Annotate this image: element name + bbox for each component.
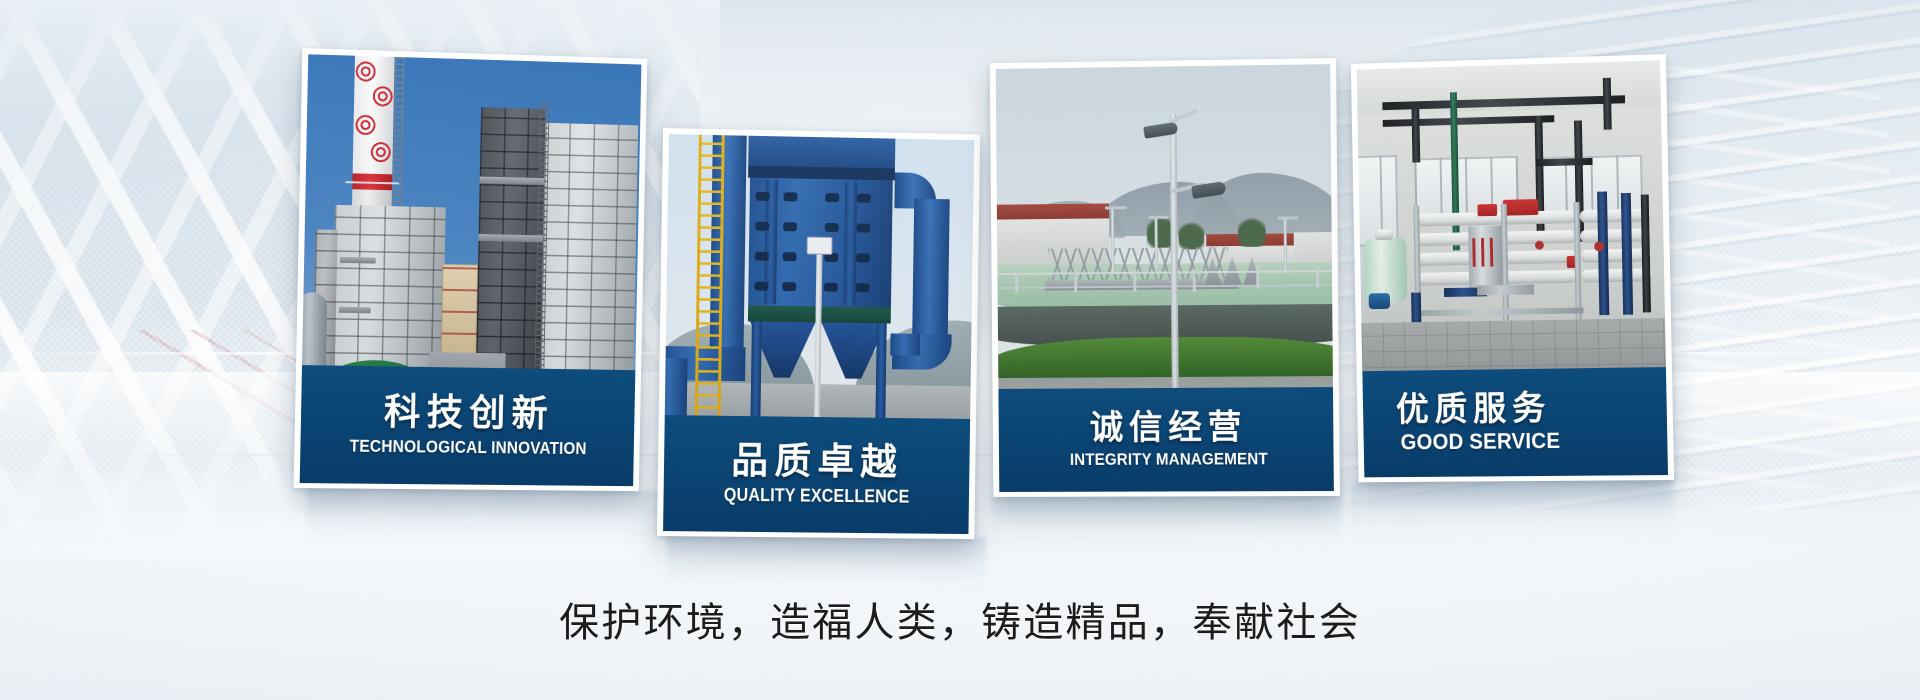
card-banner: 优质服务 GOOD SERVICE: [1362, 367, 1668, 477]
card-title-cn: 科技创新: [384, 394, 555, 435]
feature-card-integrity-management[interactable]: 诚信经营 INTEGRITY MANAGEMENT: [990, 58, 1340, 497]
card-banner: 品质卓越 QUALITY EXCELLENCE: [663, 415, 970, 534]
card-banner: 科技创新 TECHNOLOGICAL INNOVATION: [300, 365, 636, 486]
card-title-en: INTEGRITY MANAGEMENT: [1070, 450, 1268, 469]
card-title-cn: 诚信经营: [1089, 410, 1247, 446]
card-banner: 诚信经营 INTEGRITY MANAGEMENT: [998, 387, 1333, 492]
feature-card-good-service[interactable]: 优质服务 GOOD SERVICE: [1351, 54, 1674, 482]
hero-banner: 科技创新 TECHNOLOGICAL INNOVATION: [0, 0, 1920, 700]
feature-card-quality-excellence[interactable]: 品质卓越 QUALITY EXCELLENCE: [657, 128, 980, 539]
card-title-cn: 优质服务: [1396, 392, 1552, 429]
feature-card-technological-innovation[interactable]: 科技创新 TECHNOLOGICAL INNOVATION: [294, 48, 648, 491]
card-title-cn: 品质卓越: [731, 442, 903, 483]
card-title-en: QUALITY EXCELLENCE: [724, 486, 910, 508]
card-title-en: GOOD SERVICE: [1400, 429, 1560, 454]
company-slogan: 保护环境，造福人类，铸造精品，奉献社会: [0, 590, 1920, 648]
card-title-en: TECHNOLOGICAL INNOVATION: [349, 437, 586, 459]
